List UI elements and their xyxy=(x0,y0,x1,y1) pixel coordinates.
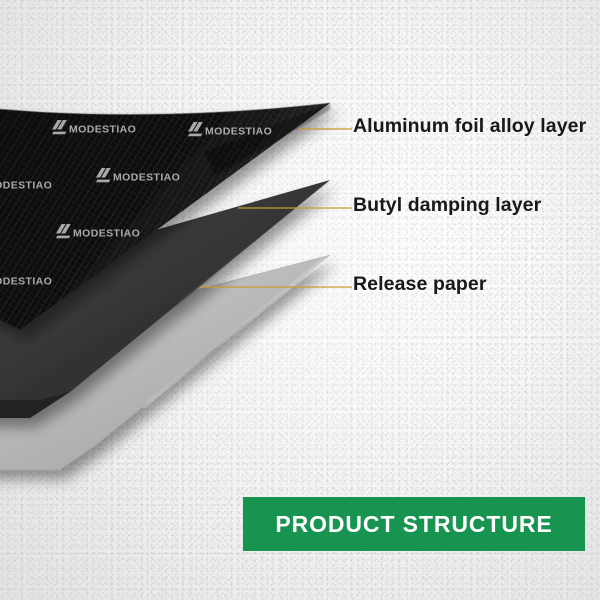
svg-text:MODESTIAO: MODESTIAO xyxy=(0,179,52,191)
product-structure-infographic: MODESTIAO MODESTIAO MODESTIAO xyxy=(0,0,600,600)
brand-watermark: MODESTIAO xyxy=(0,275,52,287)
svg-text:MODESTIAO: MODESTIAO xyxy=(69,123,136,135)
banner-title: PRODUCT STRUCTURE xyxy=(275,511,552,538)
brand-watermark: MODESTIAO xyxy=(0,179,52,191)
svg-text:MODESTIAO: MODESTIAO xyxy=(73,227,140,239)
callout-label-butyl-damping: Butyl damping layer xyxy=(353,196,541,216)
svg-text:MODESTIAO: MODESTIAO xyxy=(0,275,52,287)
svg-text:MODESTIAO: MODESTIAO xyxy=(113,171,180,183)
product-structure-banner: PRODUCT STRUCTURE xyxy=(243,497,585,551)
callout-label-aluminum-foil: Aluminum foil alloy layer xyxy=(353,117,586,137)
callout-label-release-paper: Release paper xyxy=(353,275,487,295)
svg-text:MODESTIAO: MODESTIAO xyxy=(205,125,272,137)
